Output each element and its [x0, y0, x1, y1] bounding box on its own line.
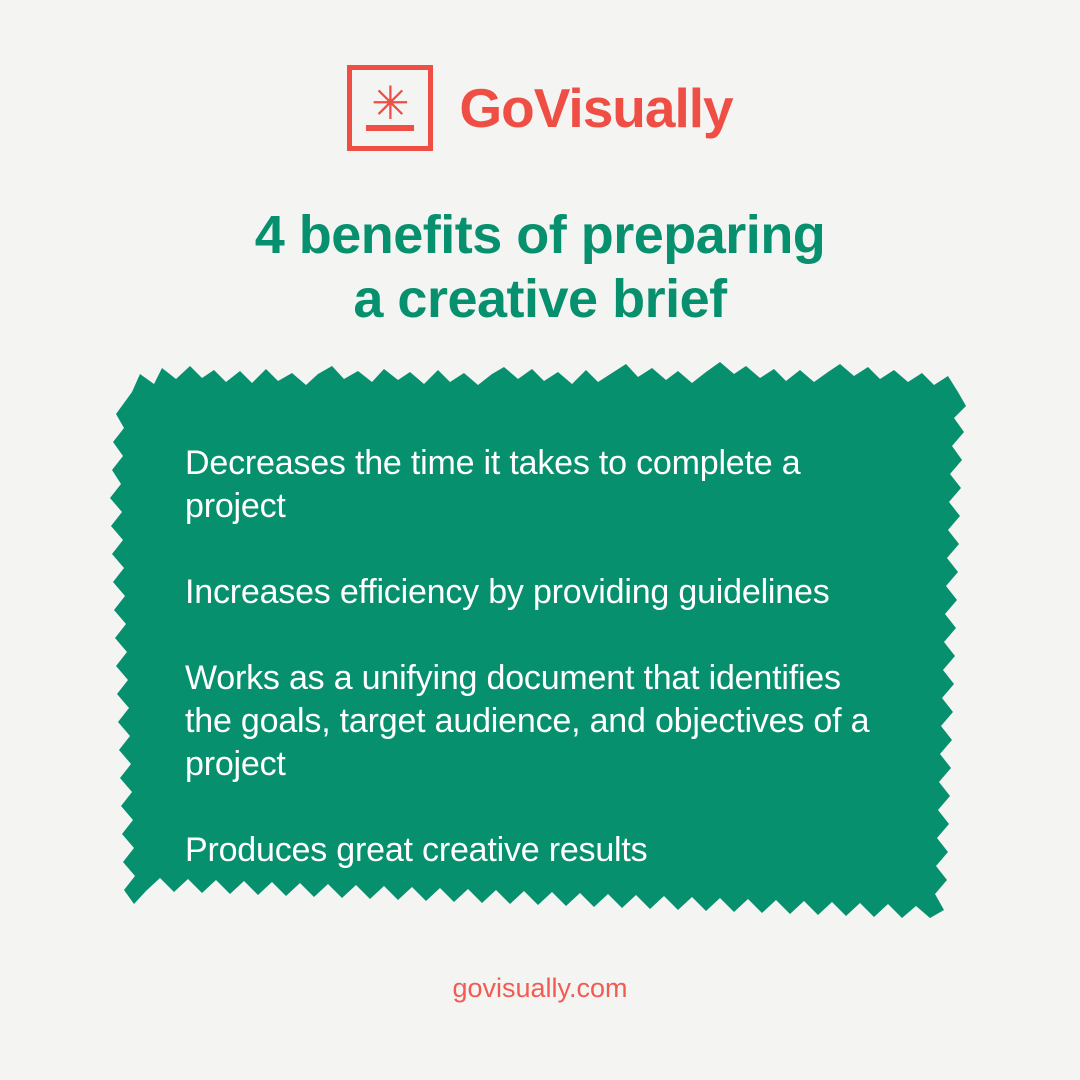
list-item: Works as a unifying document that identi…	[185, 657, 885, 786]
asterisk-icon: ✳	[352, 80, 428, 126]
benefits-card: Decreases the time it takes to complete …	[110, 352, 980, 952]
list-item: Produces great creative results	[185, 829, 885, 872]
headline-line-2: a creative brief	[0, 267, 1080, 331]
brand-wordmark: GoVisually	[459, 78, 732, 138]
brand-logo[interactable]: ✳ GoVisually	[0, 58, 1080, 158]
page-title: 4 benefits of preparing a creative brief	[0, 203, 1080, 331]
headline-line-1: 4 benefits of preparing	[0, 203, 1080, 267]
list-item: Increases efficiency by providing guidel…	[185, 571, 885, 614]
logo-underline-bar	[366, 125, 414, 131]
benefits-list: Decreases the time it takes to complete …	[185, 408, 885, 872]
poster-canvas: ✳ GoVisually 4 benefits of preparing a c…	[0, 0, 1080, 1080]
list-item: Decreases the time it takes to complete …	[185, 442, 885, 528]
logo-square-icon: ✳	[347, 65, 433, 151]
footer-website-url[interactable]: govisually.com	[0, 972, 1080, 1004]
